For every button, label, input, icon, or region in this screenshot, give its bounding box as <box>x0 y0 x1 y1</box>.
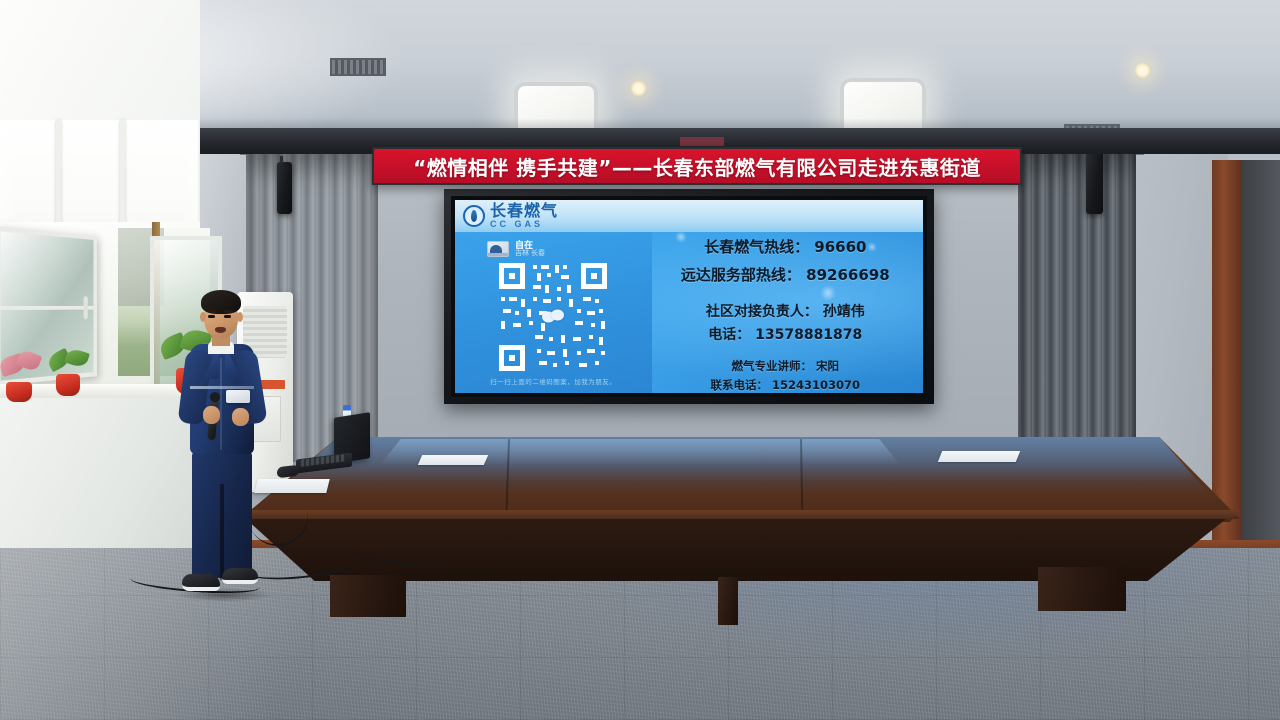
downlight-icon <box>1134 62 1151 79</box>
screen-logo-header: 长春燃气 CC GAS <box>455 200 923 232</box>
qr-name-block: 自在 吉林 长春 <box>515 240 545 258</box>
qr-finder-pattern <box>581 263 607 289</box>
presenter-brow-left <box>208 310 217 313</box>
presenter-name-badge <box>226 390 250 403</box>
qr-caption: 扫一扫上面的二维码图案，加我为朋友。 <box>490 376 616 386</box>
ceiling-air-vent <box>330 58 386 76</box>
gas-instructor-name: 燃气专业讲师： 宋阳 <box>658 358 913 374</box>
qr-identity-row: 自在 吉林 长春 <box>465 240 642 258</box>
qr-code-panel: 自在 吉林 长春 <box>455 232 652 393</box>
presenter-shoe-right <box>222 568 258 584</box>
hotline-changchun: 长春燃气热线： 96660 <box>658 236 913 257</box>
presenter-hair <box>201 290 241 314</box>
profile-avatar-icon <box>487 241 509 257</box>
presenter-uniform-stripe <box>190 386 254 389</box>
qr-finder-pattern <box>499 345 525 371</box>
downlight-icon <box>630 80 647 97</box>
logo-english-name: CC GAS <box>490 220 558 229</box>
banner-title: “燃情相伴 携手共建”——长春东部燃气有限公司走进东惠街道 <box>413 152 981 181</box>
logo-text-block: 长春燃气 CC GAS <box>490 203 558 229</box>
paper-sheet <box>938 451 1020 462</box>
screen-body: 自在 吉林 长春 <box>455 232 923 393</box>
led-presentation-screen[interactable]: 长春燃气 CC GAS 自在 吉林 长春 <box>444 189 934 404</box>
qr-finder-pattern <box>499 263 525 289</box>
presenter-hand-right <box>232 408 249 426</box>
qr-location: 吉林 长春 <box>515 250 545 258</box>
community-liaison-phone: 电话： 13578881878 <box>658 324 913 344</box>
community-liaison-name: 社区对接负责人： 孙靖伟 <box>658 301 913 321</box>
qr-nickname: 自在 <box>515 240 545 250</box>
qr-center-logo-icon <box>542 310 564 325</box>
table-leg <box>330 575 406 617</box>
screen-bezel: 长春燃气 CC GAS 自在 吉林 长春 <box>451 196 927 397</box>
gas-instructor-phone: 联系电话： 15243103070 <box>658 377 913 393</box>
flower-pot <box>56 374 80 396</box>
presenter-mouth <box>215 327 226 333</box>
presenter-eye-left <box>208 315 215 318</box>
presenter-jacket-zip <box>220 358 222 450</box>
table-leg <box>1038 567 1126 611</box>
presenter-eye-right <box>224 315 231 318</box>
presenter-hand-left <box>203 406 220 424</box>
conference-room-photo: 长春燃气 CC GAS 自在 吉林 长春 <box>0 0 1280 720</box>
presenter-ear-right <box>237 312 243 322</box>
event-banner: “燃情相伴 携手共建”——长春东部燃气有限公司走进东惠街道 <box>372 147 1022 185</box>
logo-chinese-name: 长春燃气 <box>490 203 558 219</box>
paper-sheet <box>418 455 488 465</box>
window-handle[interactable] <box>84 296 88 319</box>
wechat-qr-code <box>499 263 607 371</box>
wall-speaker-right <box>1086 152 1103 214</box>
gas-flame-logo-icon <box>463 205 485 227</box>
presenter <box>170 288 274 614</box>
presenter-leg-gap <box>220 484 224 580</box>
table-leg <box>718 577 738 625</box>
presenter-ear-left <box>200 312 206 322</box>
contact-info-panel: 长春燃气热线： 96660 远达服务部热线： 89266698 社区对接负责人：… <box>652 232 923 393</box>
wall-speaker-left <box>277 162 292 214</box>
window-crossbar <box>0 306 93 310</box>
presenter-shoe-left <box>182 574 220 591</box>
hotline-yuanda-service: 远达服务部热线： 89266698 <box>658 264 913 285</box>
soffit-vent <box>680 137 724 146</box>
screen-content: 长春燃气 CC GAS 自在 吉林 长春 <box>455 200 923 393</box>
flower-pot <box>6 382 32 402</box>
presenter-brow-right <box>224 310 233 313</box>
